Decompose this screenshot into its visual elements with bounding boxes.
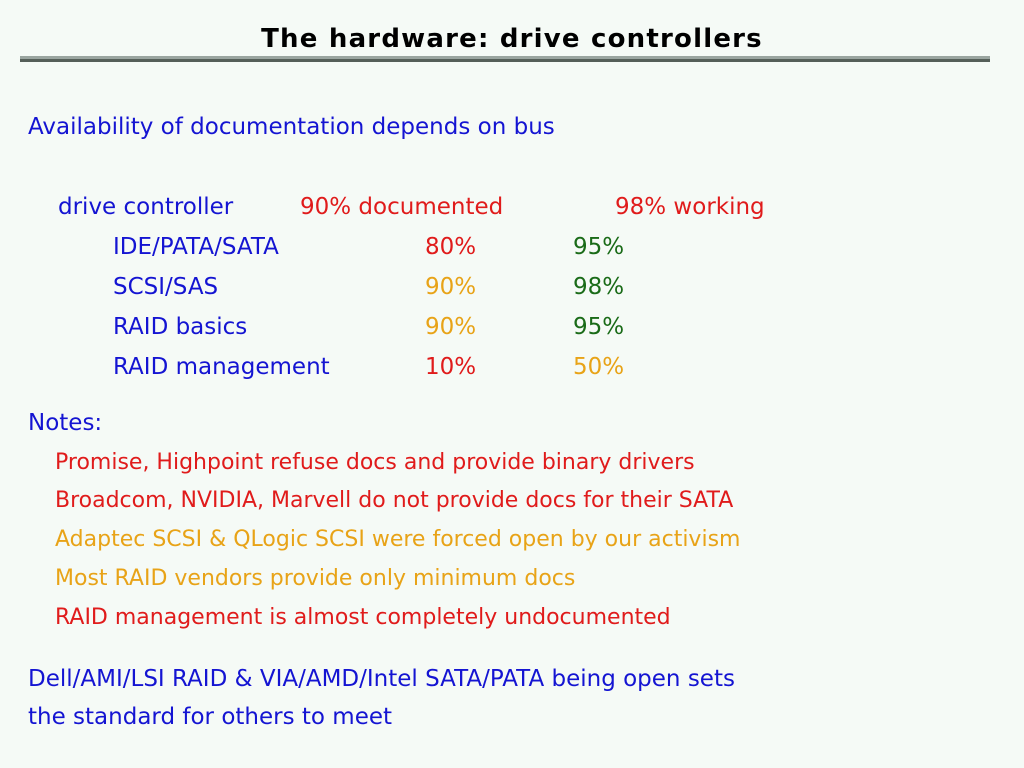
note-item: Adaptec SCSI & QLogic SCSI were forced o… (55, 529, 740, 551)
table-row-label: SCSI/SAS (113, 276, 218, 299)
table-row-documented: 80% (425, 236, 476, 259)
footer-line-2: the standard for others to meet (28, 706, 392, 729)
table-row-working: 95% (573, 236, 624, 259)
footer-line-1: Dell/AMI/LSI RAID & VIA/AMD/Intel SATA/P… (28, 668, 735, 691)
table-row-label: RAID management (113, 356, 330, 379)
page-title: The hardware: drive controllers (0, 24, 1024, 54)
table-row-working: 50% (573, 356, 624, 379)
note-item: Most RAID vendors provide only minimum d… (55, 568, 575, 590)
table-header-label: drive controller (58, 196, 233, 219)
slide-canvas: The hardware: drive controllers Availabi… (0, 0, 1024, 768)
note-item: Broadcom, NVIDIA, Marvell do not provide… (55, 490, 733, 512)
note-item: Promise, Highpoint refuse docs and provi… (55, 452, 695, 474)
table-row-documented: 90% (425, 316, 476, 339)
table-row-label: RAID basics (113, 316, 247, 339)
table-row-working: 98% (573, 276, 624, 299)
table-row-documented: 10% (425, 356, 476, 379)
table-header-documented: 90% documented (300, 196, 503, 219)
note-item: RAID management is almost completely und… (55, 607, 671, 629)
title-divider (20, 56, 990, 62)
notes-heading: Notes: (28, 412, 102, 435)
table-row-documented: 90% (425, 276, 476, 299)
table-row-label: IDE/PATA/SATA (113, 236, 279, 259)
table-row-working: 95% (573, 316, 624, 339)
table-header-working: 98% working (615, 196, 765, 219)
intro-line: Availability of documentation depends on… (28, 116, 555, 139)
